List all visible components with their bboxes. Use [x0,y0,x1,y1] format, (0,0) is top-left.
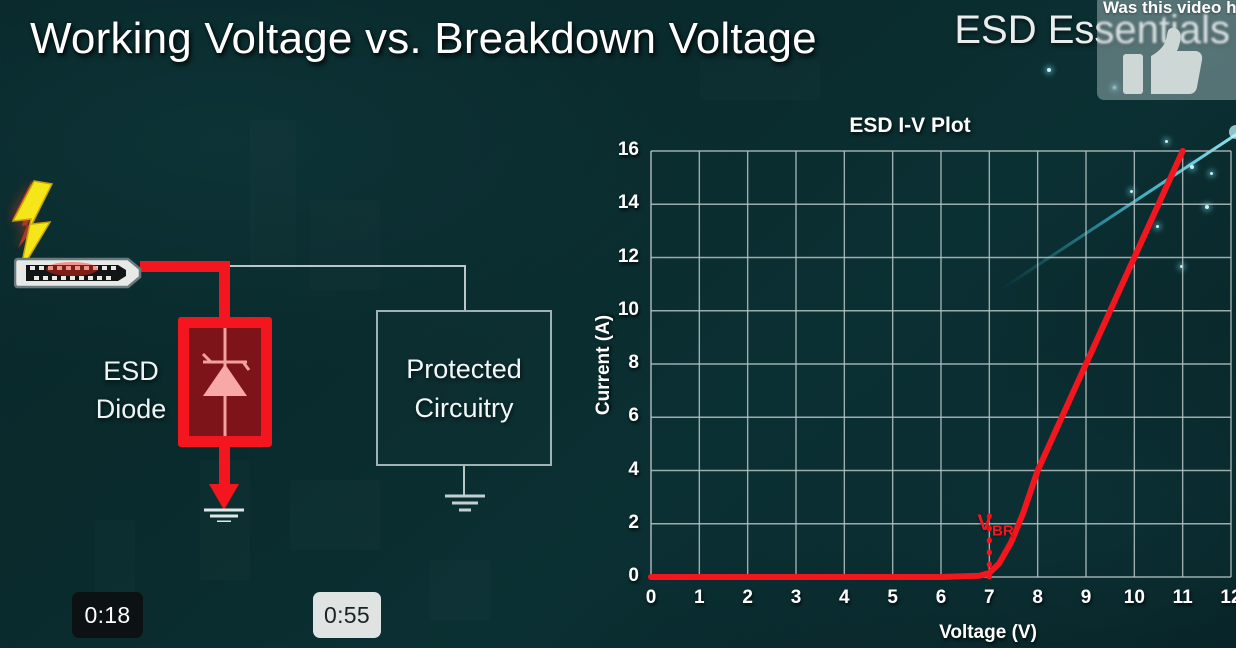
thumbs-up-icon[interactable] [1123,28,1203,96]
protected-label-line2: Circuitry [376,389,552,428]
video-frame: Working Voltage vs. Breakdown Voltage ES… [0,0,1236,648]
current-time-badge[interactable]: 0:18 [72,592,143,638]
chart-x-tick-label: 5 [873,587,913,609]
chart-x-tick-label: 0 [631,587,671,609]
protected-circuitry-label: Protected Circuitry [376,350,552,428]
ground-symbol-icon [196,476,254,522]
protected-label-line1: Protected [376,350,552,389]
chart-y-tick-label: 2 [599,512,639,534]
breakdown-voltage-label: VBR [977,510,1013,539]
chart-y-tick-label: 12 [599,246,639,268]
survey-prompt: Was this video helpful? [1103,0,1236,18]
chart-y-tick-label: 0 [599,565,639,587]
page-title: Working Voltage vs. Breakdown Voltage [30,14,817,64]
chart-y-tick-label: 10 [599,299,639,321]
esd-diode-label: ESD Diode [88,352,174,429]
chart-x-tick-label: 2 [728,587,768,609]
sparkle-particle [1047,68,1051,72]
chart-x-tick-label: 4 [824,587,864,609]
esd-diode-component[interactable] [178,317,272,447]
video-survey-overlay[interactable]: Was this video helpful? [1097,0,1236,100]
surge-path-horizontal [140,261,230,272]
chart-x-tick-label: 3 [776,587,816,609]
chart-x-tick-label: 1 [679,587,719,609]
chart-x-tick-label: 7 [969,587,1009,609]
esd-diode-label-line2: Diode [88,390,174,428]
esd-diode-label-line1: ESD [88,352,174,390]
vbr-symbol: V [977,510,992,535]
chart-x-tick-label: 9 [1066,587,1106,609]
total-time-badge[interactable]: 0:55 [313,592,381,638]
chart-plot-area [580,104,1236,648]
chart-x-tick-label: 12 [1211,587,1236,609]
signal-wire-horizontal [222,265,466,267]
chart-y-tick-label: 4 [599,459,639,481]
hdmi-connector-icon [14,253,144,293]
surge-path-vertical [219,261,230,323]
ground-symbol-icon [440,492,490,520]
chart-x-tick-label: 10 [1114,587,1154,609]
chart-x-tick-label: 8 [1018,587,1058,609]
esd-iv-chart: ESD I-V Plot Current (A) Voltage (V) 012… [580,104,1236,648]
signal-wire-vertical [464,265,466,311]
chart-y-tick-label: 8 [599,352,639,374]
chart-x-tick-label: 6 [921,587,961,609]
chart-y-tick-label: 14 [599,192,639,214]
chart-x-tick-label: 11 [1163,587,1203,609]
chart-y-tick-label: 16 [599,139,639,161]
chart-y-tick-label: 6 [599,405,639,427]
zener-diode-icon [189,328,261,436]
vbr-subscript: BR [992,522,1014,539]
